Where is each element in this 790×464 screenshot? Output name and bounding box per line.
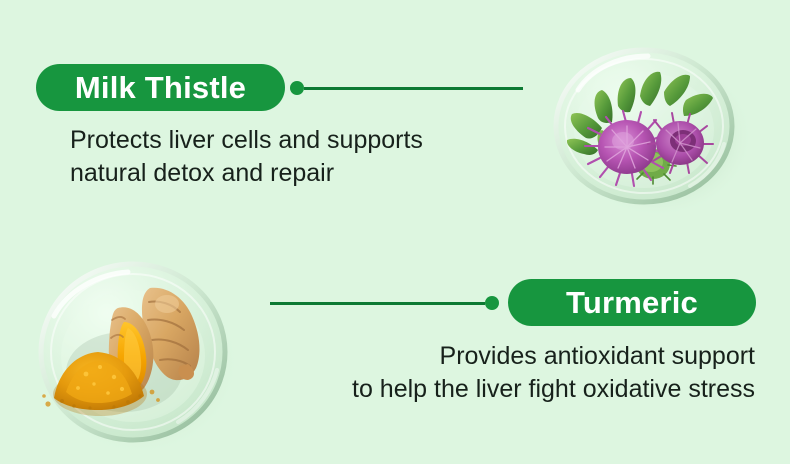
description-line: Provides antioxidant support xyxy=(300,340,755,373)
petri-dish-turmeric-root-powder xyxy=(28,246,248,458)
petri-dish-milk-thistle-flowers xyxy=(540,34,755,214)
label-pill-turmeric-text: Turmeric xyxy=(566,285,698,321)
connector-dot-icon xyxy=(485,296,499,310)
description-milk-thistle: Protects liver cells and supports natura… xyxy=(70,124,540,190)
connector-milk-thistle xyxy=(290,81,523,95)
label-pill-milk-thistle-text: Milk Thistle xyxy=(75,70,246,106)
description-line: Protects liver cells and supports xyxy=(70,124,540,157)
connector-dot-icon xyxy=(290,81,304,95)
description-line: to help the liver fight oxidative stress xyxy=(300,373,755,406)
connector-turmeric xyxy=(270,296,499,310)
description-line: natural detox and repair xyxy=(70,157,540,190)
description-turmeric: Provides antioxidant support to help the… xyxy=(300,340,755,406)
infographic-canvas: Milk Thistle Protects liver cells and su… xyxy=(0,0,790,464)
connector-line xyxy=(270,302,485,305)
label-pill-milk-thistle: Milk Thistle xyxy=(36,64,285,111)
connector-line xyxy=(304,87,523,90)
label-pill-turmeric: Turmeric xyxy=(508,279,756,326)
